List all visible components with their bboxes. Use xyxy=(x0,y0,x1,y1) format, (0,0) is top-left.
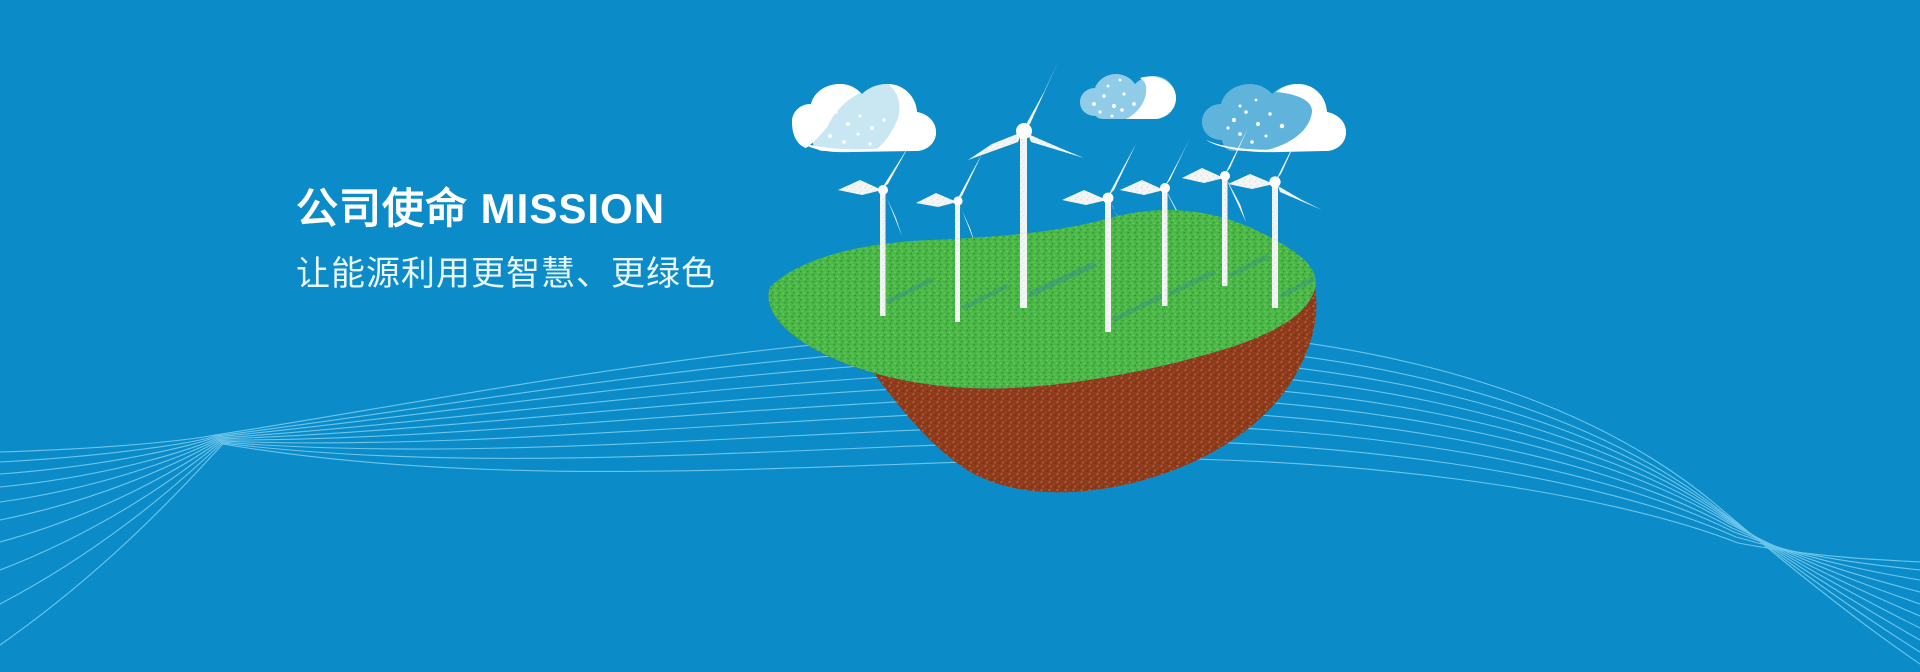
cloud-icon xyxy=(792,74,1346,152)
mission-text-block: 公司使命 MISSION 让能源利用更智慧、更绿色 xyxy=(296,186,916,295)
mission-subtitle: 让能源利用更智慧、更绿色 xyxy=(296,254,916,295)
page-title: 公司使命 MISSION xyxy=(296,186,916,232)
island-icon xyxy=(0,0,1920,672)
mission-banner: 公司使命 MISSION 让能源利用更智慧、更绿色 xyxy=(0,0,1920,672)
